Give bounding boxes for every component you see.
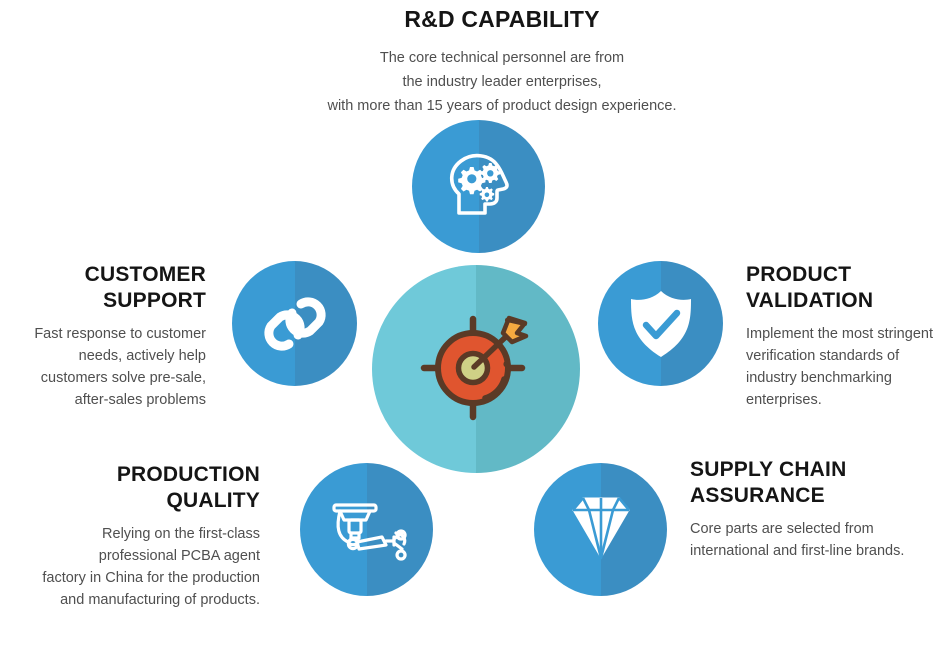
product-validation-body: Implement the most stringentverification… bbox=[746, 323, 942, 411]
product-validation-heading: PRODUCTVALIDATION bbox=[746, 262, 942, 314]
section-supply-chain-assurance: SUPPLY CHAINASSURANCE Core parts are sel… bbox=[690, 457, 940, 562]
rd-capability-node[interactable] bbox=[412, 120, 545, 253]
diamond-icon bbox=[534, 463, 667, 596]
production-quality-body: Relying on the first-classprofessional P… bbox=[10, 523, 260, 611]
chain-link-icon bbox=[232, 261, 357, 386]
rd-capability-body: The core technical personnel are fromthe… bbox=[262, 46, 742, 118]
section-customer-support: CUSTOMERSUPPORT Fast response to custome… bbox=[10, 262, 206, 411]
section-rd-capability: R&D CAPABILITY The core technical person… bbox=[262, 6, 742, 118]
supply-chain-node[interactable] bbox=[534, 463, 667, 596]
customer-support-heading: CUSTOMERSUPPORT bbox=[10, 262, 206, 314]
robot-arm-icon bbox=[300, 463, 433, 596]
center-target-node[interactable] bbox=[372, 265, 580, 473]
production-quality-node[interactable] bbox=[300, 463, 433, 596]
section-production-quality: PRODUCTIONQUALITY Relying on the first-c… bbox=[10, 462, 260, 611]
production-quality-heading: PRODUCTIONQUALITY bbox=[10, 462, 260, 514]
customer-support-node[interactable] bbox=[232, 261, 357, 386]
infographic-canvas: R&D CAPABILITY The core technical person… bbox=[0, 0, 950, 667]
head-gears-icon bbox=[412, 120, 545, 253]
supply-chain-heading: SUPPLY CHAINASSURANCE bbox=[690, 457, 940, 509]
product-validation-node[interactable] bbox=[598, 261, 723, 386]
shield-check-icon bbox=[598, 261, 723, 386]
customer-support-body: Fast response to customerneeds, actively… bbox=[10, 323, 206, 411]
section-product-validation: PRODUCTVALIDATION Implement the most str… bbox=[746, 262, 942, 411]
supply-chain-body: Core parts are selected frominternationa… bbox=[690, 518, 940, 562]
target-arrow-icon bbox=[372, 265, 580, 473]
rd-capability-heading: R&D CAPABILITY bbox=[262, 6, 742, 32]
